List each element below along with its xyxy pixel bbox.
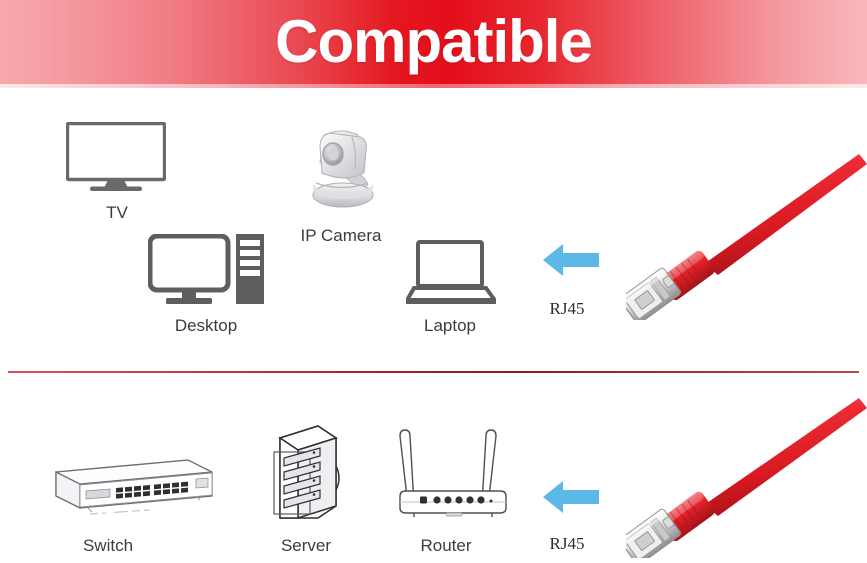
desktop-label: Desktop — [175, 316, 237, 336]
header-banner: Compatible — [0, 0, 867, 88]
laptop-label: Laptop — [424, 316, 476, 336]
switch-label: Switch — [83, 536, 133, 556]
server-rack-icon — [266, 422, 344, 526]
ip-camera-label: IP Camera — [301, 226, 382, 246]
laptop-icon — [406, 240, 496, 306]
network-switch-icon — [36, 452, 216, 518]
wireless-router-icon — [392, 424, 514, 522]
rj45-label-top: RJ45 — [550, 299, 585, 319]
rj45-label-bottom: RJ45 — [550, 534, 585, 554]
server-label: Server — [281, 536, 331, 556]
ethernet-cable-red-bottom — [626, 396, 867, 558]
section-divider — [8, 371, 859, 373]
arrow-left-icon-bottom — [543, 478, 599, 516]
arrow-left-icon — [543, 241, 599, 279]
page-title: Compatible — [275, 12, 592, 72]
ip-camera-icon — [302, 125, 384, 211]
desktop-icon — [148, 234, 266, 306]
tv-label: TV — [106, 203, 128, 223]
ethernet-cable-red-top — [626, 152, 867, 320]
router-label: Router — [420, 536, 471, 556]
tv-icon — [66, 122, 166, 196]
